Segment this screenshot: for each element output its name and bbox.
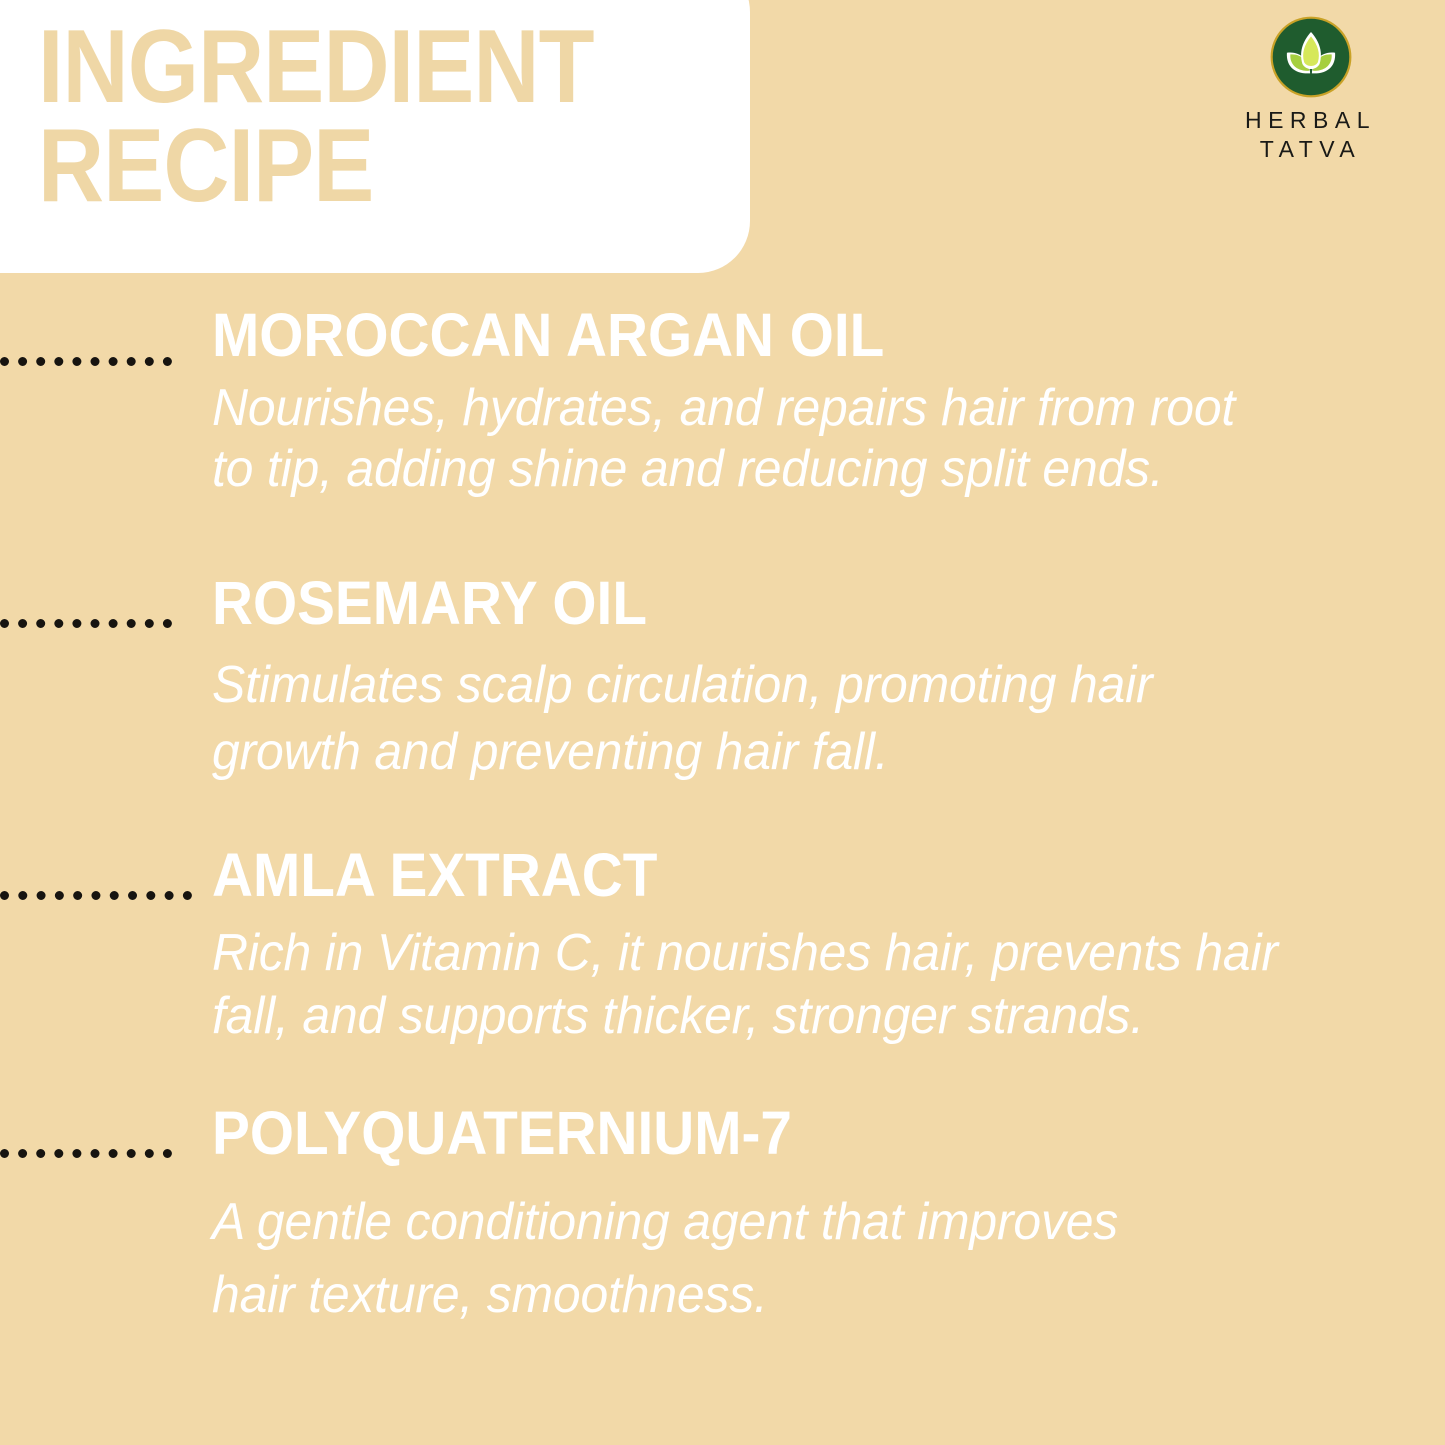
ingredient-description: Nourishes, hydrates, and repairs hair fr… (212, 378, 1396, 501)
ingredient-item: AMLA EXTRACT Rich in Vitamin C, it nouri… (0, 845, 1445, 1103)
ingredient-item: ROSEMARY OIL Stimulates scalp circulatio… (0, 573, 1445, 845)
ingredient-name: MOROCCAN ARGAN OIL (212, 305, 1359, 366)
ingredient-body: AMLA EXTRACT Rich in Vitamin C, it nouri… (212, 845, 1445, 1049)
ingredient-name: POLYQUATERNIUM-7 (212, 1103, 1359, 1164)
ingredient-description: A gentle conditioning agent that improve… (212, 1186, 1396, 1332)
ingredient-description: Rich in Vitamin C, it nourishes hair, pr… (212, 922, 1396, 1049)
ingredient-item: POLYQUATERNIUM-7 A gentle conditioning a… (0, 1103, 1445, 1353)
page-title: INGREDIENT RECIPE (38, 18, 654, 216)
ingredient-body: POLYQUATERNIUM-7 A gentle conditioning a… (212, 1103, 1445, 1332)
ingredient-name: AMLA EXTRACT (212, 845, 1359, 906)
ingredient-body: ROSEMARY OIL Stimulates scalp circulatio… (212, 573, 1445, 785)
dotted-leader-icon (0, 357, 172, 366)
brand-logo: HERBAL TATVA (1218, 14, 1403, 165)
ingredient-recipe-poster: INGREDIENT RECIPE HERBAL TATVA MOROCCAN … (0, 0, 1445, 1445)
dotted-leader-icon (0, 891, 192, 900)
brand-name-line-1: HERBAL (1218, 106, 1403, 135)
ingredient-name: ROSEMARY OIL (212, 573, 1359, 634)
ingredient-item: MOROCCAN ARGAN OIL Nourishes, hydrates, … (0, 305, 1445, 573)
brand-name-line-2: TATVA (1218, 135, 1403, 164)
title-card: INGREDIENT RECIPE (0, 0, 750, 273)
leaf-logo-icon (1268, 14, 1354, 100)
ingredient-list: MOROCCAN ARGAN OIL Nourishes, hydrates, … (0, 305, 1445, 1353)
dotted-leader-icon (0, 619, 172, 628)
ingredient-body: MOROCCAN ARGAN OIL Nourishes, hydrates, … (212, 305, 1445, 501)
dotted-leader-icon (0, 1149, 172, 1158)
ingredient-description: Stimulates scalp circulation, promoting … (212, 652, 1396, 785)
